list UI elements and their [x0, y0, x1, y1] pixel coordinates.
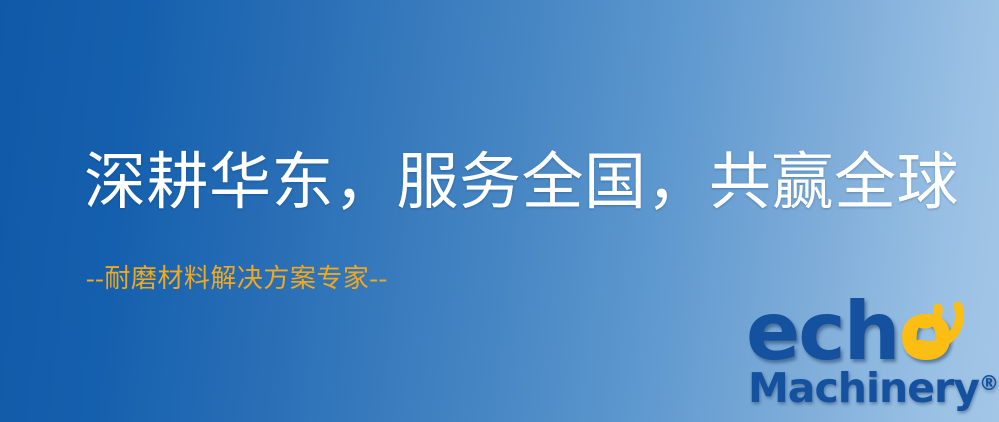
logo-wordmark-machinery: Machinery® — [748, 368, 999, 409]
wifi-arcs-icon — [908, 294, 970, 356]
registered-trademark-icon: ® — [979, 371, 999, 395]
banner-subtitle: --耐磨材料解决方案专家-- — [86, 266, 388, 292]
banner-headline: 深耕华东，服务全国，共赢全球 — [84, 152, 959, 214]
hero-banner: 深耕华东，服务全国，共赢全球 --耐磨材料解决方案专家-- echo Machi… — [0, 0, 999, 422]
company-logo[interactable]: echo Machinery® — [742, 292, 994, 418]
logo-text-machinery: Machinery — [748, 364, 979, 412]
